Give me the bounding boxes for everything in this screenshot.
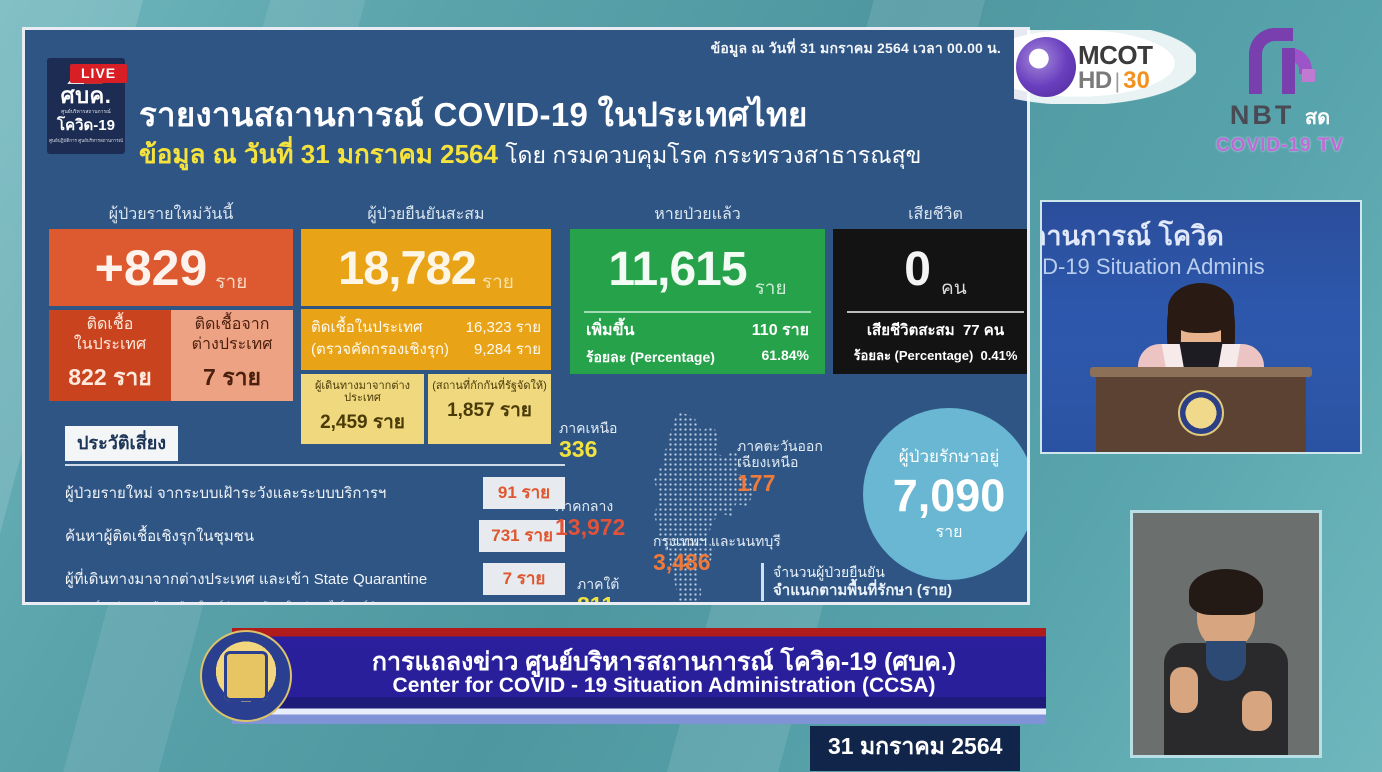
new-cases-imported-label-2: ต่างประเทศ <box>192 335 273 354</box>
total-cases-value: 18,782 <box>338 244 476 291</box>
recovered-percent-value: 61.84% <box>762 347 809 369</box>
risk-item-label: ผู้ป่วยรายใหม่ จากระบบเฝ้าระวังและระบบบร… <box>65 481 386 505</box>
risk-item: ผู้ป่วยรายใหม่ จากระบบเฝ้าระวังและระบบบร… <box>65 477 565 509</box>
deaths-unit: คน <box>941 273 967 303</box>
treating-value: 7,090 <box>893 472 1006 519</box>
recovered-percent-label: ร้อยละ (Percentage) <box>586 347 715 369</box>
risk-item-value: 731 ราย <box>479 520 565 552</box>
risk-top-divider <box>65 464 565 466</box>
treating-unit: ราย <box>936 520 963 545</box>
interpreter-right-hand <box>1242 691 1272 731</box>
ccsa-logo-sub2: ศูนย์ปฏิบัติการ ศูนย์บริหารสถานการณ์ <box>49 137 123 144</box>
new-cases-imported: ติดเชื้อจาก ต่างประเทศ 7 ราย <box>171 310 293 401</box>
thailand-map-block: ภาคเหนือ 336 ภาคตะวันออก เฉียงเหนือ 177 … <box>555 408 855 605</box>
risk-item-label: ผู้ที่เดินทางมาจากต่างประเทศ และเข้า Sta… <box>65 567 427 591</box>
deaths-card: 0 คน เสียชีวิตสะสม 77 คน ร้อยละ (Percent… <box>833 229 1030 374</box>
new-cases-domestic: ติดเชื้อ ในประเทศ 822 ราย <box>49 310 171 401</box>
map-region-central-label: ภาคกลาง <box>555 498 625 514</box>
map-region-central-value: 13,972 <box>555 514 625 540</box>
new-cases-domestic-value: 822 ราย <box>68 360 152 396</box>
total-quarantine-value: 1,857 ราย <box>430 395 549 425</box>
nbt-live-th: สด <box>1305 107 1330 129</box>
total-abroad-label: ผู้เดินทางมาจากต่างประเทศ <box>303 380 422 404</box>
government-seal-icon <box>1178 390 1224 436</box>
new-cases-value: +829 <box>95 243 208 293</box>
map-region-northeast-label-1: ภาคตะวันออก <box>737 438 823 454</box>
nbt-logo: NBT สด COVID-19 TV <box>1190 28 1370 157</box>
podium <box>1096 374 1306 452</box>
slide-subtitle-date: ข้อมูล ณ วันที่ 31 มกราคม 2564 <box>139 139 498 169</box>
risk-item-value: 7 ราย <box>483 563 565 595</box>
new-cases-headline: +829 ราย <box>49 229 293 306</box>
total-active-value: 9,284 ราย <box>474 339 541 361</box>
total-quarantine-label: (สถานที่กักกันที่รัฐจัดให้) <box>430 380 549 392</box>
deaths-cumulative-value: 77 คน <box>963 322 1004 339</box>
new-cases-domestic-label-1: ติดเชื้อ <box>87 315 134 334</box>
banner-title-english: Center for COVID - 19 Situation Administ… <box>296 674 1032 698</box>
backdrop-text-english: ID-19 Situation Adminis <box>1040 254 1265 280</box>
map-region-bangkok-label: กรุงเทพฯ และนนทบุรี <box>653 533 781 549</box>
map-region-north-label: ภาคเหนือ <box>559 420 617 436</box>
interpreter-head <box>1197 579 1255 649</box>
interpreter-left-hand <box>1170 667 1198 713</box>
total-domestic-label: ติดเชื้อในประเทศ <box>311 317 423 339</box>
risk-note-line-1: จาก บาห์เรน 1 ราย สหรัฐอาหรับเอมิเรตส์ 1… <box>65 599 565 605</box>
total-domestic-value: 16,323 ราย <box>466 317 541 339</box>
map-region-north: ภาคเหนือ 336 <box>559 420 617 463</box>
new-cases-card: +829 ราย ติดเชื้อ ในประเทศ 822 ราย ติดเช… <box>49 229 293 401</box>
garuda-emblem-icon <box>200 630 292 722</box>
backdrop-text-thai: ถานการณ์ โควิด <box>1040 214 1224 257</box>
risk-item-label: ค้นหาผู้ติดเชื้อเชิงรุกในชุมชน <box>65 524 254 548</box>
slide-subtitle-source: โดย กรมควบคุมโรค กระทรวงสาธารณสุข <box>505 142 921 168</box>
caption-deaths: เสียชีวิต <box>833 202 1030 227</box>
risk-item: ผู้ที่เดินทางมาจากต่างประเทศ และเข้า Sta… <box>65 563 565 595</box>
caption-total-cases: ผู้ป่วยยืนยันสะสม <box>301 202 551 227</box>
treating-label: ผู้ป่วยรักษาอยู่ <box>899 443 1000 470</box>
nbt-covid-tv: COVID-19 TV <box>1190 135 1370 157</box>
mcot-hd-label: HD <box>1078 69 1112 93</box>
mcot-name: MCOT <box>1078 42 1153 68</box>
broadcast-date-badge: 31 มกราคม 2564 <box>810 726 1020 771</box>
presenter-video-panel[interactable]: ถานการณ์ โควิด ID-19 Situation Adminis <box>1040 200 1362 454</box>
map-region-south-value: 811 <box>577 592 619 605</box>
total-active-label: (ตรวจคัดกรองเชิงรุก) <box>311 339 449 361</box>
recovered-unit: ราย <box>755 273 787 303</box>
deaths-cumulative-label: เสียชีวิตสะสม <box>867 322 955 339</box>
mcot-orb-icon <box>1016 37 1076 97</box>
recovered-card: 11,615 ราย เพิ่มขึ้น 110 ราย ร้อยละ (Per… <box>570 229 825 374</box>
total-cases-headline: 18,782 ราย <box>301 229 551 306</box>
deaths-percent: ร้อยละ (Percentage) 0.41% <box>833 342 1030 366</box>
nbt-mark-icon <box>1243 28 1317 98</box>
as-of-timestamp: ข้อมูล ณ วันที่ 31 มกราคม 2564 เวลา 00.0… <box>711 38 1001 60</box>
mcot-channel-number: 30 <box>1123 69 1150 93</box>
new-cases-unit: ราย <box>215 267 247 297</box>
total-cases-unit: ราย <box>482 267 514 297</box>
new-cases-imported-value: 7 ราย <box>203 360 261 396</box>
map-region-south-label: ภาคใต้ <box>577 576 619 592</box>
covid-report-slide: ข้อมูล ณ วันที่ 31 มกราคม 2564 เวลา 00.0… <box>22 27 1030 605</box>
recovered-increase-value: 110 ราย <box>752 318 809 343</box>
lower-third-banner: การแถลงข่าว ศูนย์บริหารสถานการณ์ โควิด-1… <box>186 628 1046 724</box>
live-badge: LIVE <box>70 64 127 83</box>
risk-item: ค้นหาผู้ติดเชื้อเชิงรุกในชุมชน 731 ราย <box>65 520 565 552</box>
map-region-northeast-label-2: เฉียงเหนือ <box>737 454 823 470</box>
risk-history-badge: ประวัติเสี่ยง <box>65 426 178 461</box>
ccsa-logo-abbr: ศบค. <box>61 85 112 107</box>
mcot-separator: | <box>1115 71 1120 92</box>
total-cases-card: 18,782 ราย ติดเชื้อในประเทศ 16,323 ราย (… <box>301 229 551 444</box>
deaths-cumulative: เสียชีวิตสะสม 77 คน <box>833 313 1030 342</box>
map-region-northeast-value: 177 <box>737 470 823 496</box>
deaths-value: 0 <box>904 246 931 294</box>
ccsa-logo-word: โควิด-19 <box>57 118 115 135</box>
new-cases-domestic-label-2: ในประเทศ <box>74 335 146 354</box>
recovered-value: 11,615 <box>608 246 746 294</box>
recovered-increase-label: เพิ่มขึ้น <box>586 318 634 343</box>
map-region-northeast: ภาคตะวันออก เฉียงเหนือ 177 <box>737 438 823 497</box>
nbt-abbr: NBT <box>1230 100 1295 130</box>
treating-patients-circle: ผู้ป่วยรักษาอยู่ 7,090 ราย <box>863 408 1030 580</box>
map-region-north-value: 336 <box>559 436 617 462</box>
mcot-logo: MCOT HD | 30 <box>1014 30 1196 104</box>
caption-recovered: หายป่วยแล้ว <box>570 202 825 227</box>
map-region-south: ภาคใต้ 811 <box>577 576 619 605</box>
deaths-percent-label: ร้อยละ (Percentage) <box>854 348 974 363</box>
slide-subtitle: ข้อมูล ณ วันที่ 31 มกราคม 2564 โดย กรมคว… <box>139 134 921 175</box>
map-region-central: ภาคกลาง 13,972 <box>555 498 625 541</box>
map-legend-line-2: จำแนกตามพื้นที่รักษา (ราย) <box>773 582 952 599</box>
total-cases-breakdown: ติดเชื้อในประเทศ 16,323 ราย (ตรวจคัดกรอง… <box>301 309 551 370</box>
risk-history-section: ประวัติเสี่ยง ผู้ป่วยรายใหม่ จากระบบเฝ้า… <box>65 426 565 605</box>
interpreter-body <box>1164 643 1288 758</box>
ccsa-logo-sub1: ศูนย์บริหารสถานการณ์ <box>61 108 111 116</box>
sign-interpreter-figure <box>1164 579 1288 758</box>
sign-language-video-panel[interactable] <box>1130 510 1322 758</box>
caption-new-cases: ผู้ป่วยรายใหม่วันนี้ <box>49 202 293 227</box>
deaths-percent-value: 0.41% <box>981 348 1018 363</box>
new-cases-imported-label-1: ติดเชื้อจาก <box>195 315 270 334</box>
risk-item-value: 91 ราย <box>483 477 565 509</box>
